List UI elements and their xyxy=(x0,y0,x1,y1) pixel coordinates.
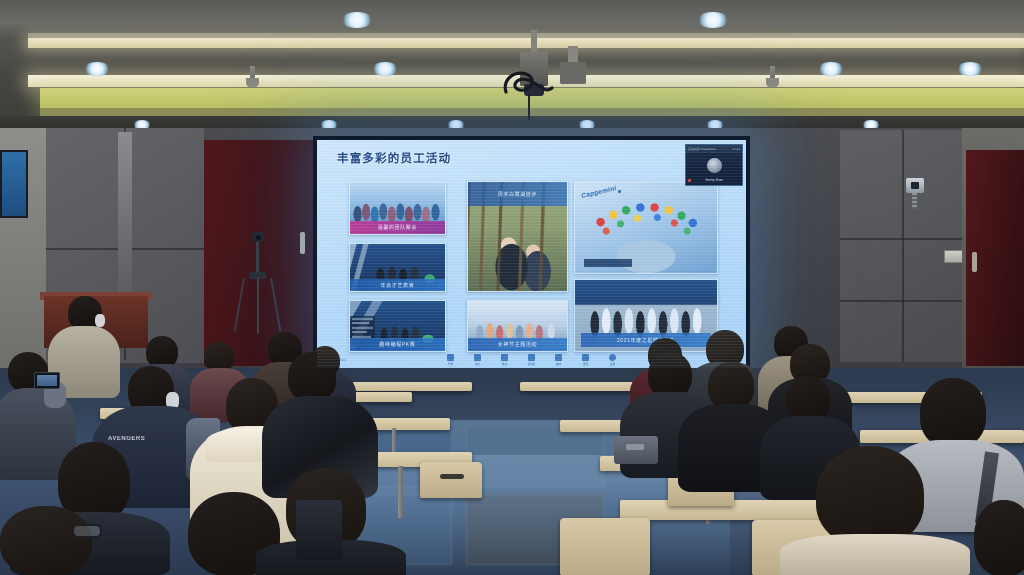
photo-caption: 温馨的团队聚会 xyxy=(350,221,444,235)
taskbar-item-page[interactable]: 页面 xyxy=(577,354,595,366)
video-call-title: 正在共享 PowerPoint xyxy=(688,147,716,151)
wall-metal-strip xyxy=(118,132,132,312)
annotate-icon xyxy=(501,354,508,361)
taskbar-item-speaker[interactable]: 演讲者 xyxy=(523,354,541,366)
page-icon xyxy=(582,354,589,361)
start-icon xyxy=(447,354,454,361)
lecture-chair xyxy=(560,518,650,575)
door-handle-icon[interactable] xyxy=(300,232,305,254)
photo-team-stage: 年会才艺表演 xyxy=(349,243,445,293)
tripod-leg xyxy=(257,278,259,334)
phone-screen[interactable] xyxy=(37,375,57,386)
photo-caption: 趣味编程PK赛 xyxy=(350,338,444,351)
taskbar-item-play[interactable]: 放映 xyxy=(550,354,568,366)
video-call-titlebar: 正在共享 PowerPoint 47:21 xyxy=(686,145,742,153)
slide-title: 丰富多彩的员工活动 xyxy=(337,150,451,166)
slide-surface[interactable]: 丰富多彩的员工活动 温馨的团队聚会 年会才艺表演 趣味编程PK赛 xyxy=(317,140,746,368)
recessed-downlight xyxy=(84,62,110,76)
photo-girls-day: 女神节主题活动 xyxy=(467,300,568,352)
photo-caption: 周末白鹭湖徒步 xyxy=(468,182,567,206)
torso xyxy=(780,534,970,575)
photo-team-group: 温馨的团队聚会 xyxy=(349,181,445,235)
projection-screen[interactable]: 丰富多彩的员工活动 温馨的团队聚会 年会才艺表演 趣味编程PK赛 xyxy=(313,136,750,372)
door-handle-icon[interactable] xyxy=(972,252,977,272)
chair-handle-slot xyxy=(440,474,464,479)
head xyxy=(920,378,986,448)
recessed-downlight xyxy=(697,12,729,28)
wall-seam xyxy=(902,130,904,362)
photo-badge xyxy=(584,259,632,267)
backpack xyxy=(614,436,658,464)
photo-pc-competition: 趣味编程PK赛 xyxy=(349,300,445,352)
head xyxy=(974,500,1024,575)
taskbar-label: 批注 xyxy=(502,362,507,366)
recessed-downlight xyxy=(341,12,373,28)
eyeglasses-icon xyxy=(72,524,102,538)
backpack xyxy=(296,500,342,560)
photo-caption: 女神节主题活动 xyxy=(468,338,567,351)
head xyxy=(288,352,336,402)
taskbar-item-settings[interactable]: 设置 xyxy=(604,354,622,366)
gear-icon xyxy=(609,354,616,361)
cove-light-strip-upper xyxy=(28,38,1024,48)
wall-seam xyxy=(840,300,964,302)
wall-monitor xyxy=(0,150,28,218)
photo-hiking: 周末白鹭湖徒步 xyxy=(467,181,568,292)
camera-lens-icon xyxy=(911,182,919,189)
taskbar-item-start[interactable]: 开始 xyxy=(442,354,460,366)
speaker-icon xyxy=(528,354,535,361)
photo-caption: 年会才艺表演 xyxy=(350,279,444,291)
video-call-panel[interactable]: 正在共享 PowerPoint 47:21 Sherry Zhao xyxy=(685,144,743,186)
taskbar-label: 开始 xyxy=(448,362,453,366)
slide-taskbar[interactable]: 开始 演示 批注 演讲者 放映 xyxy=(442,354,622,366)
photo-annual-meeting: 2021年度之星颁奖典礼 xyxy=(574,279,718,352)
recessed-downlight xyxy=(818,62,844,76)
taskbar-item-annotate[interactable]: 批注 xyxy=(496,354,514,366)
photo-caption: 2021年度之星颁奖典礼 xyxy=(581,333,711,347)
projector-cable-drop xyxy=(528,94,530,120)
lecture-desk xyxy=(520,382,646,391)
present-icon xyxy=(474,354,481,361)
camera-cable xyxy=(912,193,917,209)
head xyxy=(816,446,924,546)
avatar xyxy=(707,158,722,173)
taskbar-label: 演示 xyxy=(475,362,480,366)
participant-name: Sherry Zhao xyxy=(686,178,742,182)
taskbar-label: 演讲者 xyxy=(528,362,536,366)
lecture-hall-photo: 丰富多彩的员工活动 温馨的团队聚会 年会才艺表演 趣味编程PK赛 xyxy=(0,0,1024,575)
lecture-desk xyxy=(352,382,472,391)
play-icon xyxy=(555,354,562,361)
taskbar-label: 放映 xyxy=(556,362,561,366)
head xyxy=(708,362,754,410)
lecture-chair xyxy=(420,462,482,498)
head xyxy=(0,506,92,575)
ceiling-speaker xyxy=(766,78,779,87)
taskbar-label: 设置 xyxy=(610,362,615,366)
desk-leg xyxy=(398,466,403,518)
bag-zipper xyxy=(626,444,644,450)
tripod-camera-lens-icon xyxy=(256,235,261,240)
video-call-timer: 47:21 xyxy=(732,147,740,151)
projector-housing xyxy=(560,62,586,84)
smartphone[interactable] xyxy=(34,372,60,389)
garment-text: AVENGERS xyxy=(108,436,145,442)
wall-seam xyxy=(840,238,964,240)
tripod-column xyxy=(256,242,259,276)
face-mask xyxy=(95,314,105,327)
cove-shadow-green xyxy=(40,108,1024,116)
recessed-downlight xyxy=(372,62,398,76)
photo-global-globe: Capgemini xyxy=(574,181,718,274)
ceiling-speaker xyxy=(246,78,259,87)
taskbar-item-present[interactable]: 演示 xyxy=(469,354,487,366)
recessed-downlight xyxy=(957,62,983,76)
projector-mount-stem xyxy=(531,30,537,54)
taskbar-label: 页面 xyxy=(583,362,588,366)
